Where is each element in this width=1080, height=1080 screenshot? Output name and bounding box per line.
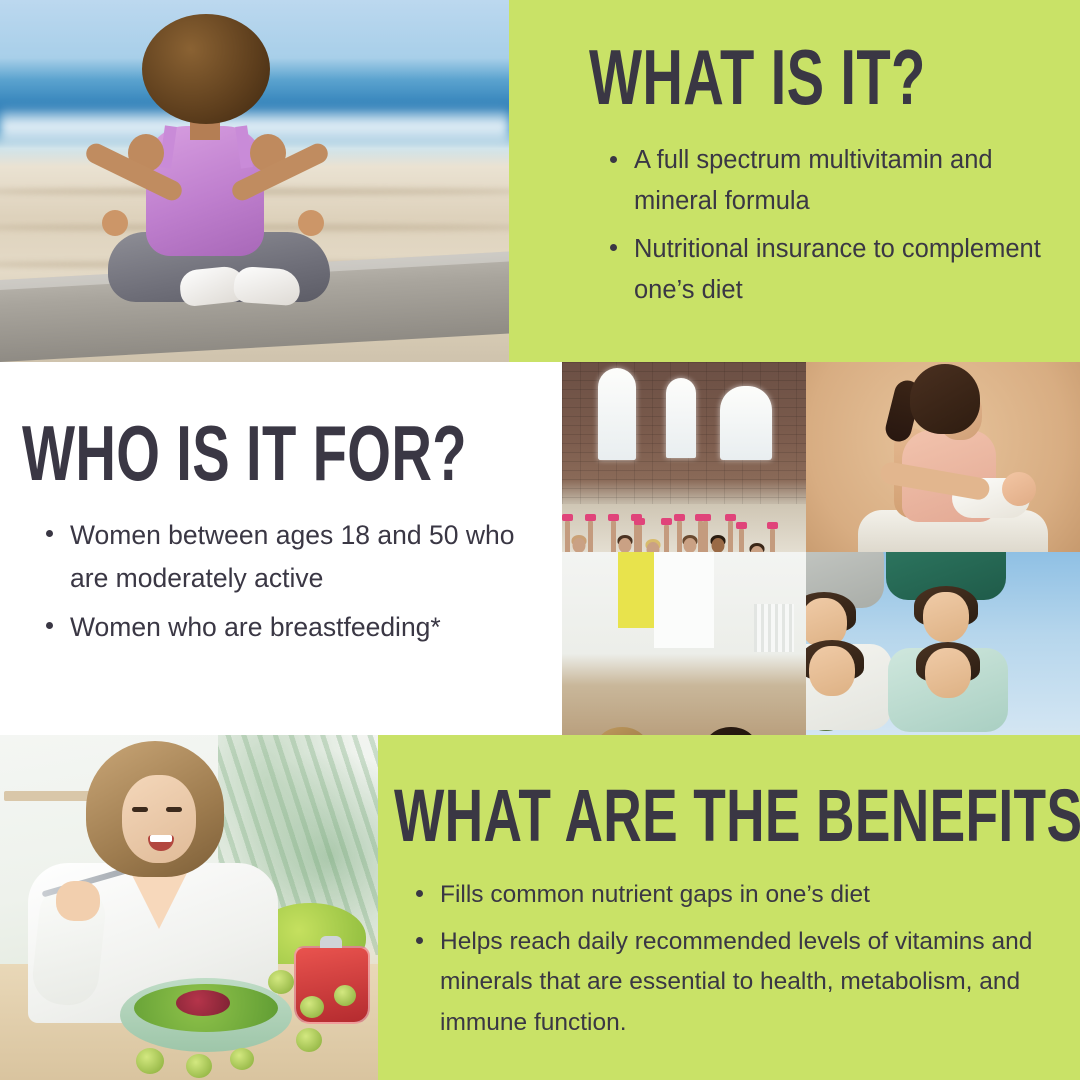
hand — [56, 881, 100, 921]
section-heading-who-is-it-for: WHO IS IT FOR? — [22, 414, 467, 492]
section-heading-what-is-it: WHAT IS IT? — [589, 38, 926, 116]
list-item: Women who are breastfeeding* — [40, 606, 530, 649]
salad-bowl — [120, 978, 292, 1052]
mother-hair — [910, 364, 980, 434]
bullet-list-what-are-the-benefits: Fills common nutrient gaps in one’s diet… — [410, 875, 1050, 1050]
bullet-list-who-is-it-for: Women between ages 18 and 50 who are mod… — [40, 514, 530, 655]
yellow-wall-panel — [618, 552, 654, 628]
afro-hair — [142, 14, 270, 124]
photo-yoga-pair — [562, 552, 806, 737]
arched-window — [598, 368, 636, 460]
infographic-poster: WHAT IS IT? A full spectrum multivitamin… — [0, 0, 1080, 1080]
arched-window — [720, 386, 772, 460]
photo-friends-huddle — [806, 552, 1080, 737]
section-what-is-it: WHAT IS IT? A full spectrum multivitamin… — [509, 0, 1080, 362]
list-item: Fills common nutrient gaps in one’s diet — [410, 875, 1050, 916]
meditating-woman-figure — [88, 14, 348, 304]
hand — [298, 210, 324, 236]
baby-head — [1002, 472, 1036, 506]
brussels-sprout — [268, 970, 294, 994]
section-who-is-it-for: WHO IS IT FOR? Women between ages 18 and… — [0, 362, 562, 735]
photo-beach-meditation — [0, 0, 509, 362]
bullet-list-what-is-it: A full spectrum multivitamin and mineral… — [604, 140, 1054, 317]
eye — [166, 807, 182, 812]
brussels-sprout — [296, 1028, 322, 1052]
section-heading-what-are-the-benefits: WHAT ARE THE BENEFITS? — [394, 779, 1080, 853]
list-item: Helps reach daily recommended levels of … — [410, 922, 1050, 1044]
radiator — [754, 604, 794, 652]
list-item: Nutritional insurance to complement one’… — [604, 229, 1054, 312]
list-item: Women between ages 18 and 50 who are mod… — [40, 514, 530, 600]
white-wall-panel — [654, 552, 714, 648]
brussels-sprout — [300, 996, 324, 1018]
brussels-sprout — [136, 1048, 164, 1074]
eye — [132, 807, 148, 812]
brussels-sprout — [230, 1048, 254, 1070]
photo-woman-eating-salad — [0, 735, 378, 1080]
brussels-sprout — [334, 985, 356, 1006]
brussels-sprout — [186, 1054, 212, 1078]
list-item: A full spectrum multivitamin and mineral… — [604, 140, 1054, 223]
hand — [102, 210, 128, 236]
arched-window — [666, 378, 696, 458]
section-what-are-the-benefits: WHAT ARE THE BENEFITS? Fills common nutr… — [378, 735, 1080, 1080]
photo-breastfeeding-mother — [806, 362, 1080, 552]
photo-gym-group-class — [562, 362, 806, 552]
